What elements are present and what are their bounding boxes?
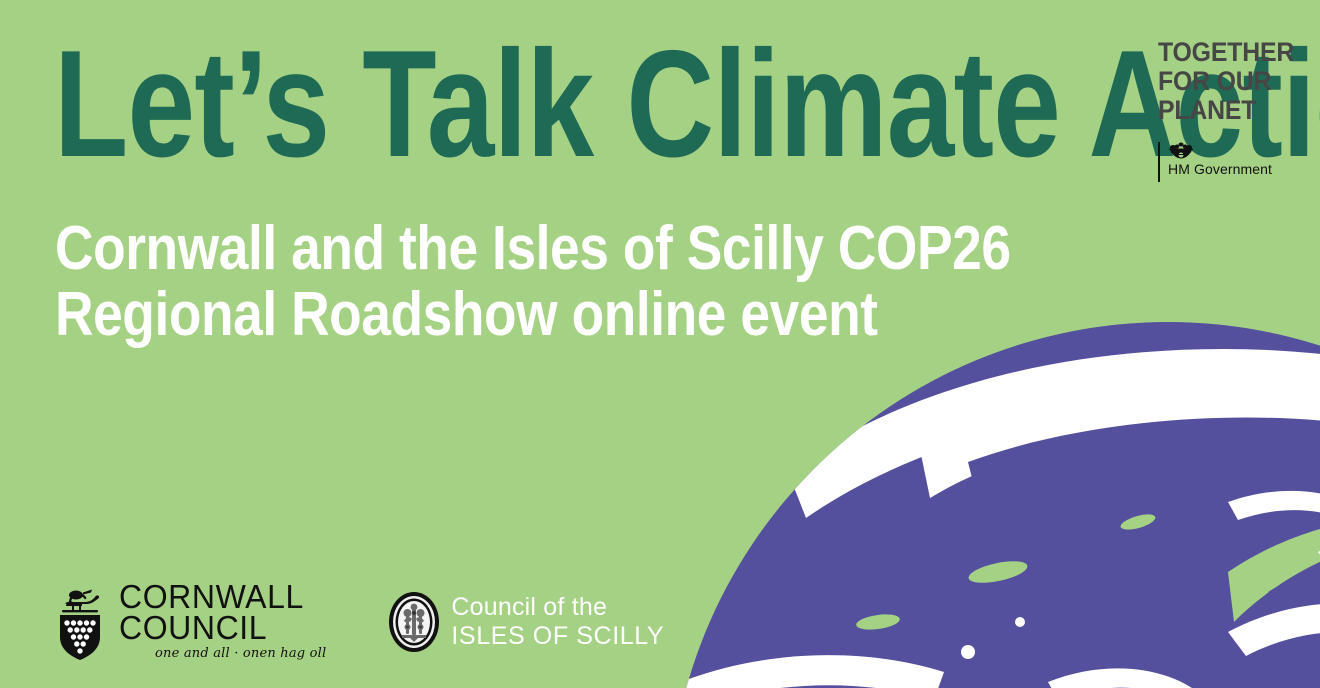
isles-of-scilly-seal-icon — [388, 591, 440, 653]
tfop-line-1: TOGETHER — [1158, 38, 1287, 67]
cornwall-council-tagline: one and all · onen hag oll — [155, 646, 326, 662]
cornwall-council-logo: CORNWALL COUNCIL one and all · onen hag … — [52, 581, 326, 662]
isles-of-scilly-line-1: Council of the — [451, 593, 664, 622]
partner-logos: CORNWALL COUNCIL one and all · onen hag … — [52, 581, 664, 662]
event-subtitle-line-2: Regional Roadshow online event — [55, 282, 1130, 348]
cornwall-council-word-2: COUNCIL — [119, 612, 320, 643]
cornwall-chough-shield-icon — [52, 583, 108, 661]
tfop-line-2: FOR OUR — [1158, 67, 1287, 96]
event-subtitle-line-1: Cornwall and the Isles of Scilly COP26 — [55, 216, 1130, 282]
event-subtitle: Cornwall and the Isles of Scilly COP26 R… — [55, 216, 1305, 348]
hm-government-label: HM Government — [1168, 161, 1272, 178]
royal-crown-icon — [1168, 142, 1194, 160]
cornwall-council-word-1: CORNWALL — [119, 581, 320, 612]
cornwall-council-wordmark: CORNWALL COUNCIL one and all · onen hag … — [119, 581, 326, 662]
isles-of-scilly-wordmark: Council of the ISLES OF SCILLY — [451, 593, 664, 651]
page-title: Let’s Talk Climate Action — [54, 28, 1320, 180]
marbled-earth-globe-icon — [668, 322, 1320, 688]
tfop-line-3: PLANET — [1158, 96, 1287, 125]
together-for-our-planet-logo: TOGETHER FOR OUR PLANET — [1158, 38, 1298, 125]
cop26-roadshow-banner: Let’s Talk Climate Action Cornwall and t… — [0, 0, 1320, 688]
isles-of-scilly-logo: Council of the ISLES OF SCILLY — [388, 591, 664, 653]
isles-of-scilly-line-2: ISLES OF SCILLY — [451, 622, 664, 651]
hm-government-logo: HM Government — [1158, 142, 1272, 182]
